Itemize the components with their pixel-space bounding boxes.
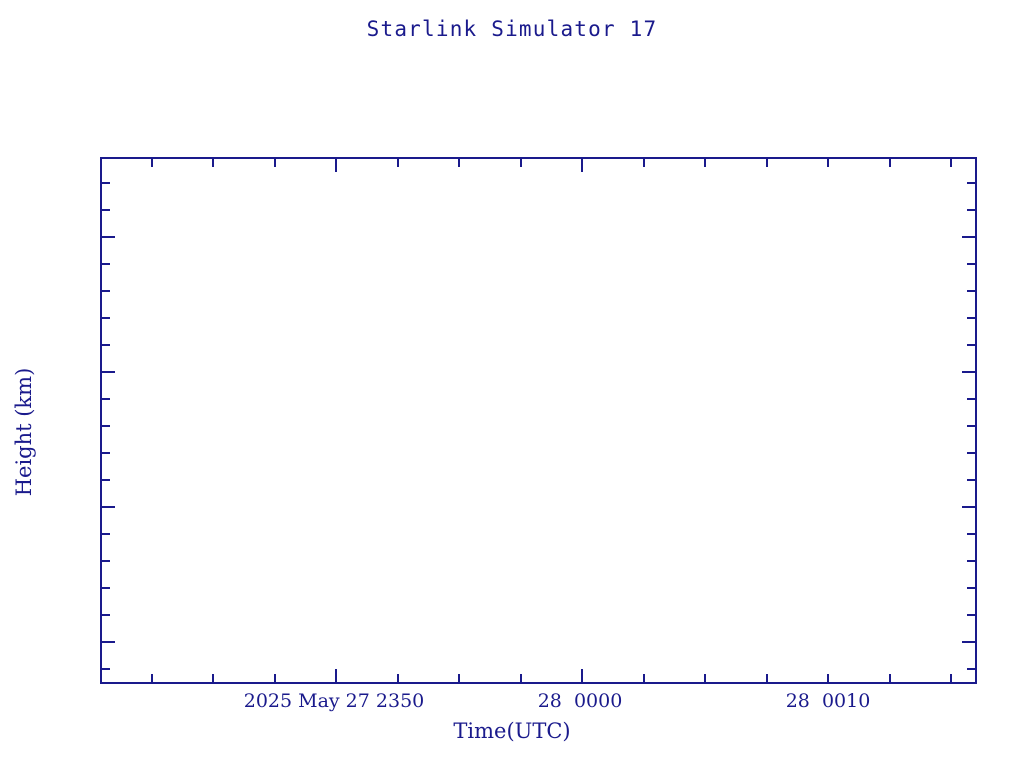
axis-tick (102, 479, 110, 481)
axis-tick (102, 290, 110, 292)
axis-tick (950, 674, 952, 682)
axis-tick (967, 479, 975, 481)
axis-tick (967, 290, 975, 292)
x-axis-tick-label: 28 0010 (786, 690, 871, 712)
axis-tick (458, 674, 460, 682)
axis-tick (102, 425, 110, 427)
axis-tick (274, 674, 276, 682)
axis-tick (102, 506, 115, 508)
axis-tick (827, 159, 829, 167)
axis-tick (950, 159, 952, 167)
axis-tick (889, 674, 891, 682)
axis-tick (967, 263, 975, 265)
axis-tick (967, 560, 975, 562)
axis-tick (581, 669, 583, 682)
axis-tick (520, 674, 522, 682)
axis-tick (967, 425, 975, 427)
axis-tick (102, 587, 110, 589)
axis-tick (458, 159, 460, 167)
axis-tick (151, 674, 153, 682)
axis-tick (102, 182, 110, 184)
axis-tick (766, 674, 768, 682)
axis-tick (643, 674, 645, 682)
axis-tick (102, 398, 110, 400)
axis-tick (962, 641, 975, 643)
axis-tick (967, 533, 975, 535)
axis-tick (102, 641, 115, 643)
axis-tick (102, 533, 110, 535)
x-axis-tick-label: 2025 May 27 2350 (244, 690, 425, 712)
axis-tick (962, 371, 975, 373)
axis-tick (889, 159, 891, 167)
chart-canvas: Starlink Simulator 17 96981001022025 May… (0, 0, 1024, 768)
y-axis-title: Height (km) (12, 322, 36, 542)
axis-tick (967, 668, 975, 670)
axis-tick (151, 159, 153, 167)
axis-tick (962, 236, 975, 238)
axis-tick (335, 669, 337, 682)
axis-tick (766, 159, 768, 167)
axis-tick (520, 159, 522, 167)
axis-tick (212, 159, 214, 167)
axis-tick (335, 159, 337, 172)
axis-tick (397, 674, 399, 682)
axis-tick (581, 159, 583, 172)
axis-tick (967, 614, 975, 616)
x-axis-tick-label: 28 0000 (538, 690, 623, 712)
axis-tick (274, 159, 276, 167)
axis-tick (102, 371, 115, 373)
axis-tick (967, 182, 975, 184)
chart-title: Starlink Simulator 17 (0, 17, 1024, 41)
plot-frame (100, 157, 977, 684)
axis-tick (704, 674, 706, 682)
plot-data-area (102, 159, 975, 682)
axis-tick (102, 344, 110, 346)
axis-tick (827, 674, 829, 682)
axis-tick (102, 452, 110, 454)
axis-tick (102, 668, 110, 670)
axis-tick (102, 263, 110, 265)
axis-tick (102, 209, 110, 211)
axis-tick (967, 398, 975, 400)
axis-tick (704, 159, 706, 167)
axis-tick (102, 560, 110, 562)
axis-tick (102, 614, 110, 616)
x-axis-title: Time(UTC) (0, 719, 1024, 743)
axis-tick (967, 344, 975, 346)
axis-tick (967, 317, 975, 319)
axis-tick (102, 317, 110, 319)
axis-tick (212, 674, 214, 682)
axis-tick (967, 452, 975, 454)
axis-tick (643, 159, 645, 167)
axis-tick (102, 236, 115, 238)
axis-tick (962, 506, 975, 508)
axis-tick (397, 159, 399, 167)
axis-tick (967, 209, 975, 211)
axis-tick (967, 587, 975, 589)
